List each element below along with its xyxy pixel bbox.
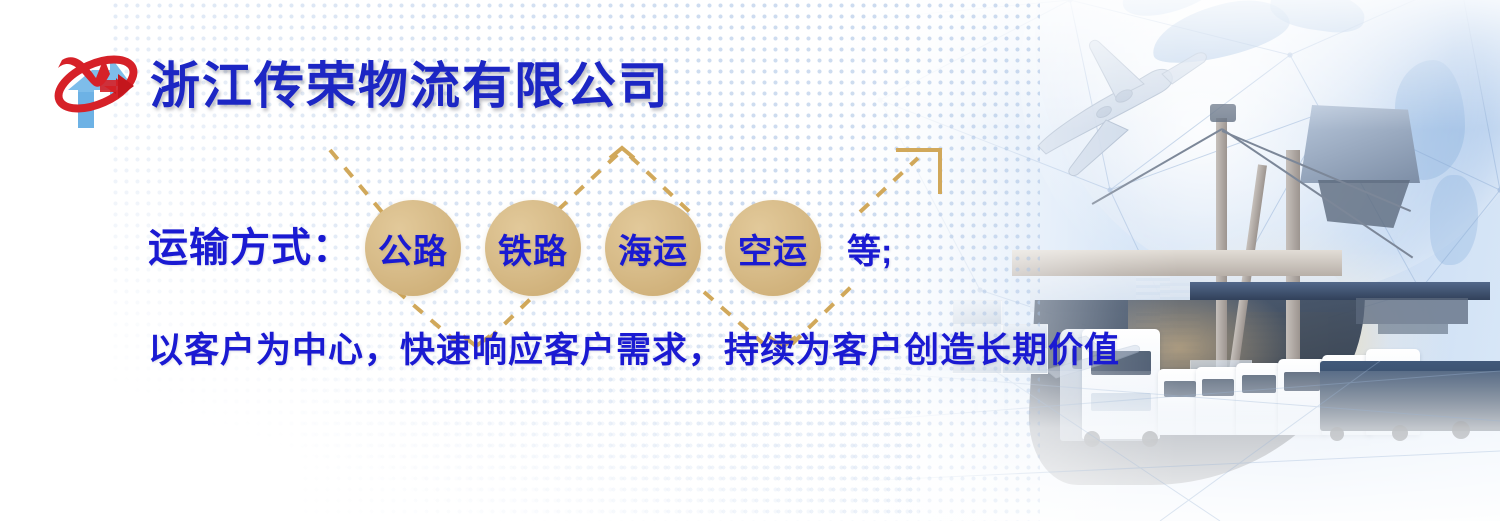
mode-label-air: 空运 bbox=[738, 224, 808, 273]
mode-circle-rail[interactable]: 铁路 bbox=[485, 200, 581, 296]
mode-label-rail: 铁路 bbox=[498, 224, 568, 273]
transport-modes-label: 运输方式： bbox=[148, 228, 353, 268]
transport-modes-row: 运输方式： 公路 铁路 海运 空运 等; bbox=[148, 200, 892, 296]
orbit-arrow-logo-icon bbox=[48, 34, 144, 138]
mode-circle-road[interactable]: 公路 bbox=[365, 200, 461, 296]
mode-label-road: 公路 bbox=[378, 224, 448, 273]
mode-circle-sea[interactable]: 海运 bbox=[605, 200, 701, 296]
mode-label-sea: 海运 bbox=[618, 224, 688, 273]
company-tagline: 以客户为中心，快速响应客户需求，持续为客户创造长期价值 bbox=[148, 322, 1120, 373]
company-name: 浙江传荣物流有限公司 bbox=[150, 61, 670, 111]
banner-content: 浙江传荣物流有限公司 bbox=[0, 0, 1500, 521]
transport-modes-suffix: 等; bbox=[847, 224, 892, 273]
brand-block: 浙江传荣物流有限公司 bbox=[48, 34, 670, 138]
mode-circle-air[interactable]: 空运 bbox=[725, 200, 821, 296]
logistics-banner: 浙江传荣物流有限公司 bbox=[0, 0, 1500, 521]
